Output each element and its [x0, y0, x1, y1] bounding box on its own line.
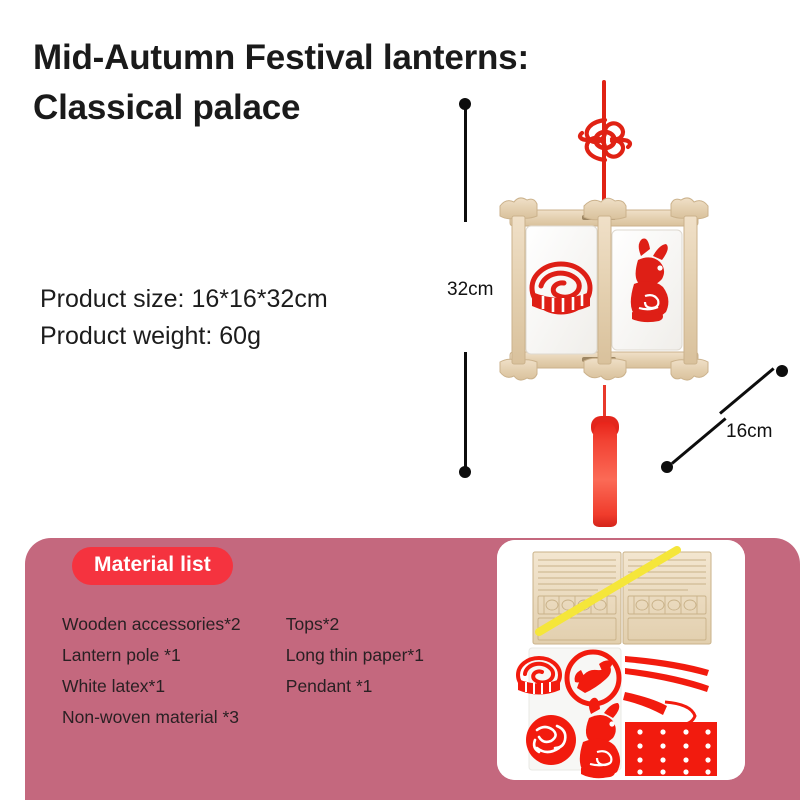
height-dimension-line-upper	[464, 104, 467, 222]
material-list-badge: Material list	[72, 547, 233, 585]
height-dimension-dot-top	[459, 98, 471, 110]
list-item: Pendant *1	[286, 676, 472, 698]
height-dimension-label: 32cm	[447, 279, 493, 301]
width-dimension-line-upper	[719, 367, 775, 414]
list-item: Long thin paper*1	[286, 645, 472, 667]
chinese-knot-icon	[576, 112, 634, 168]
product-weight-text: Product weight: 60g	[40, 318, 460, 355]
perforated-red-sheet	[625, 722, 717, 776]
width-dimension-dot-top	[776, 365, 788, 377]
material-list-columns: Wooden accessories*2 Lantern pole *1 Whi…	[62, 614, 472, 729]
height-dimension-dot-bottom	[459, 466, 471, 478]
width-dimension-label: 16cm	[726, 421, 772, 443]
material-column-left: Wooden accessories*2 Lantern pole *1 Whi…	[62, 614, 271, 729]
product-spec-block: Product size: 16*16*32cm Product weight:…	[40, 281, 460, 354]
product-size-text: Product size: 16*16*32cm	[40, 281, 460, 318]
material-kit-photo: Flat-lay photo of the kit: laser-cut woo…	[497, 540, 745, 780]
height-dimension-line-lower	[464, 352, 467, 470]
material-column-right: Tops*2 Long thin paper*1 Pendant *1	[286, 614, 472, 729]
list-item: Wooden accessories*2	[62, 614, 271, 636]
lantern-product-photo: Wooden classical palace lantern with red…	[490, 80, 720, 540]
lantern-photo-alt: Wooden classical palace lantern with red…	[490, 80, 491, 81]
lantern-body-illustration	[498, 192, 710, 392]
list-item: Non-woven material *3	[62, 707, 271, 729]
title-line-1: Mid-Autumn Festival lanterns:	[33, 33, 593, 83]
ornament-papercut-piece	[526, 715, 576, 765]
kit-contents-illustration	[497, 540, 745, 780]
list-item: White latex*1	[62, 676, 271, 698]
red-tassel	[593, 422, 617, 527]
list-item: Lantern pole *1	[62, 645, 271, 667]
list-item: Tops*2	[286, 614, 472, 636]
